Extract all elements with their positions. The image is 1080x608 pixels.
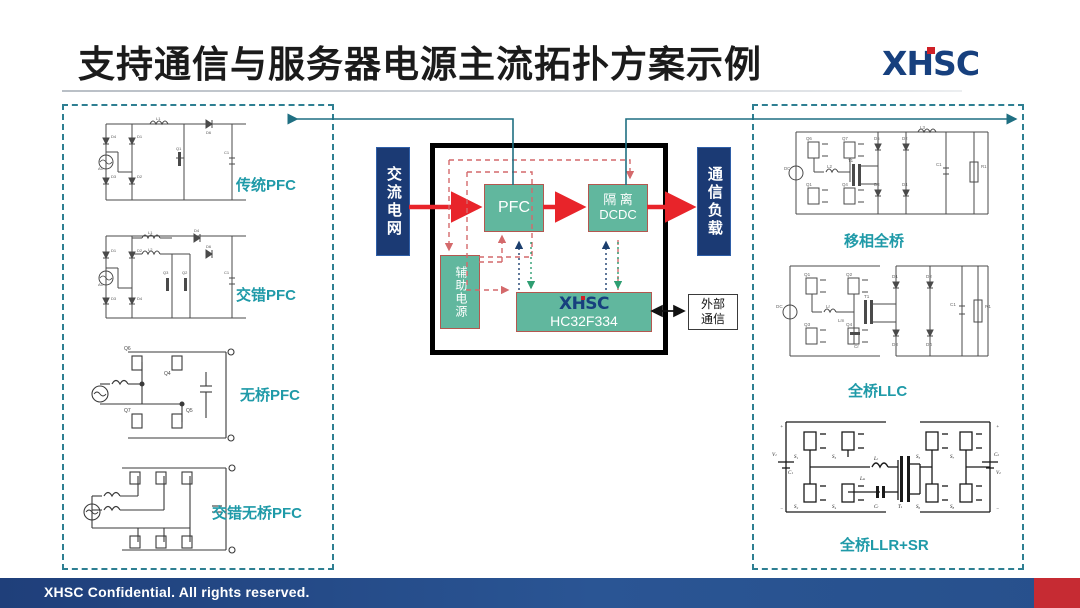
svg-text:DC: DC	[776, 304, 783, 309]
circuit-traditional-pfc: D4D1 D3D2 L1Q1 D6C1 AC	[98, 114, 258, 210]
svg-text:C1: C1	[936, 162, 942, 167]
svg-text:D4: D4	[137, 296, 143, 301]
svg-text:Q7: Q7	[842, 136, 848, 141]
svg-text:+: +	[996, 425, 999, 430]
svg-text:C1: C1	[224, 270, 230, 275]
svg-text:Lr: Lr	[826, 304, 831, 309]
svg-text:−: −	[780, 507, 783, 512]
svg-text:D5: D5	[874, 136, 880, 141]
label-full-bridge-llc: 全桥LLC	[848, 380, 907, 401]
circuit-full-bridge-llc: Q1Q2 Q3Q4 D1D2 D3D4 LrCr LmT1 C1R1 DC	[772, 256, 1004, 368]
circuit-phase-shift-full-bridge: Q6Q7 Q1Q4 D5D2 D3D4 L3T1 L2C1R1 DC	[778, 120, 1004, 226]
auxiliary-power-block: 辅助电源	[440, 255, 480, 329]
svg-text:D1: D1	[892, 274, 898, 279]
circuit-bridgeless-pfc: Q6Q4 Q7Q5	[86, 342, 256, 452]
svg-text:Cr: Cr	[874, 505, 879, 510]
mcu-part-number: HC32F334	[550, 313, 618, 329]
page-footer: XHSC Confidential. All rights reserved.	[0, 578, 1080, 608]
svg-text:Cr: Cr	[854, 344, 859, 349]
external-communication-block: 外部 通信	[688, 294, 738, 330]
ac-grid-block: 交流电网	[376, 147, 410, 256]
svg-text:R1: R1	[981, 164, 987, 169]
svg-text:Lm: Lm	[838, 318, 845, 323]
svg-text:D4: D4	[926, 342, 932, 347]
svg-text:S₁: S₁	[794, 455, 799, 460]
svg-text:C1: C1	[950, 302, 956, 307]
label-bridgeless-pfc: 无桥PFC	[240, 384, 300, 405]
svg-text:Q6: Q6	[124, 346, 131, 352]
page-title: 支持通信与服务器电源主流拓扑方案示例	[78, 34, 762, 88]
svg-text:R1: R1	[985, 304, 991, 309]
svg-text:D3: D3	[111, 174, 117, 179]
mcu-logo-accent-square-icon	[581, 296, 585, 300]
svg-text:S₄: S₄	[832, 505, 837, 510]
page-header: 支持通信与服务器电源主流拓扑方案示例 XHSC	[0, 0, 1080, 96]
svg-text:V2: V2	[996, 471, 1001, 476]
svg-text:Lr: Lr	[873, 457, 879, 462]
svg-text:D1: D1	[111, 248, 117, 253]
svg-text:C1: C1	[788, 471, 793, 476]
mcu-logo: XHSC	[559, 296, 609, 313]
svg-text:T1: T1	[848, 158, 854, 163]
title-divider	[62, 90, 962, 92]
svg-text:D3: D3	[111, 296, 117, 301]
svg-text:S₂: S₂	[794, 505, 799, 510]
right-topology-panel: Q6Q7 Q1Q4 D5D2 D3D4 L3T1 L2C1R1 DC 移相全桥	[752, 104, 1024, 570]
xhsc-logo: XHSC	[882, 44, 1002, 84]
svg-text:T1: T1	[898, 505, 903, 510]
svg-text:L1: L1	[156, 116, 161, 121]
svg-text:D2: D2	[137, 174, 143, 179]
svg-text:D6: D6	[206, 244, 212, 249]
svg-text:D2: D2	[926, 274, 932, 279]
label-interleaved-bridgeless-pfc: 交错无桥PFC	[212, 502, 302, 523]
svg-text:DC: DC	[784, 166, 790, 171]
svg-text:−: −	[996, 507, 999, 512]
left-topology-panel: D4D1 D3D2 L1Q1 D6C1 AC 传统PFC	[62, 104, 334, 570]
svg-text:Q1: Q1	[176, 146, 182, 151]
svg-text:Q3: Q3	[804, 322, 811, 327]
svg-text:L1: L1	[148, 230, 153, 235]
svg-text:L2: L2	[148, 247, 153, 252]
svg-text:S₇: S₇	[950, 455, 955, 460]
circuit-interleaved-pfc: D1D2 D3D4 L1L2 Q3Q2 D4D6 C1AC	[98, 226, 258, 326]
svg-text:Q7: Q7	[124, 408, 131, 414]
svg-text:Q2: Q2	[182, 270, 188, 275]
label-traditional-pfc: 传统PFC	[236, 174, 296, 195]
svg-text:D4: D4	[902, 182, 908, 187]
svg-text:Q1: Q1	[804, 272, 811, 277]
svg-text:D2: D2	[902, 136, 908, 141]
svg-text:V1: V1	[772, 453, 777, 458]
svg-text:Q4: Q4	[842, 182, 848, 187]
svg-text:S₈: S₈	[950, 505, 955, 510]
svg-text:D6: D6	[206, 130, 212, 135]
footer-confidential-text: XHSC Confidential. All rights reserved.	[44, 584, 310, 600]
external-comm-line-1: 外部	[701, 297, 725, 312]
svg-text:S₆: S₆	[916, 505, 921, 510]
communication-load-block: 通信负载	[697, 147, 731, 256]
svg-text:Lm: Lm	[859, 477, 866, 482]
svg-text:L3: L3	[920, 125, 925, 130]
dcdc-line-2: DCDC	[599, 208, 637, 223]
svg-text:D1: D1	[137, 134, 143, 139]
label-phase-shift-full-bridge: 移相全桥	[844, 230, 904, 251]
label-full-bridge-llr-sr: 全桥LLR+SR	[840, 534, 929, 555]
dcdc-line-1: 隔 离	[599, 193, 637, 208]
svg-text:Q3: Q3	[163, 270, 169, 275]
svg-text:C1: C1	[224, 150, 230, 155]
svg-text:L2: L2	[827, 164, 832, 169]
svg-text:Q5: Q5	[186, 408, 193, 414]
svg-text:Q2: Q2	[846, 272, 853, 277]
svg-text:+: +	[780, 425, 783, 430]
svg-text:S₃: S₃	[832, 455, 837, 460]
svg-text:D2: D2	[137, 248, 143, 253]
logo-text: XHSC	[882, 44, 1002, 84]
svg-text:Q6: Q6	[806, 136, 812, 141]
svg-text:D4: D4	[194, 228, 200, 233]
logo-accent-square-icon	[927, 47, 935, 54]
svg-text:D3: D3	[874, 182, 880, 187]
svg-text:Q1: Q1	[806, 182, 812, 187]
svg-text:Q4: Q4	[846, 322, 853, 327]
svg-text:T1: T1	[864, 294, 870, 299]
svg-text:Q4: Q4	[164, 371, 171, 377]
svg-text:D3: D3	[892, 342, 898, 347]
svg-text:S₅: S₅	[916, 455, 921, 460]
svg-text:AC: AC	[98, 166, 104, 171]
pfc-block: PFC	[484, 184, 544, 232]
label-interleaved-pfc: 交错PFC	[236, 284, 296, 305]
isolated-dcdc-block: 隔 离 DCDC	[588, 184, 648, 232]
svg-text:D4: D4	[111, 134, 117, 139]
svg-text:C2: C2	[994, 453, 999, 458]
svg-text:AC: AC	[98, 282, 104, 287]
mcu-block: XHSC HC32F334	[516, 292, 652, 332]
footer-accent-block	[1034, 578, 1080, 608]
external-comm-line-2: 通信	[701, 312, 725, 327]
circuit-full-bridge-llr-sr: S₁S₃ S₂S₄ S₅S₇ S₆S₈ Lr Lm Cr T1 V1 V2 C1…	[768, 412, 1006, 524]
